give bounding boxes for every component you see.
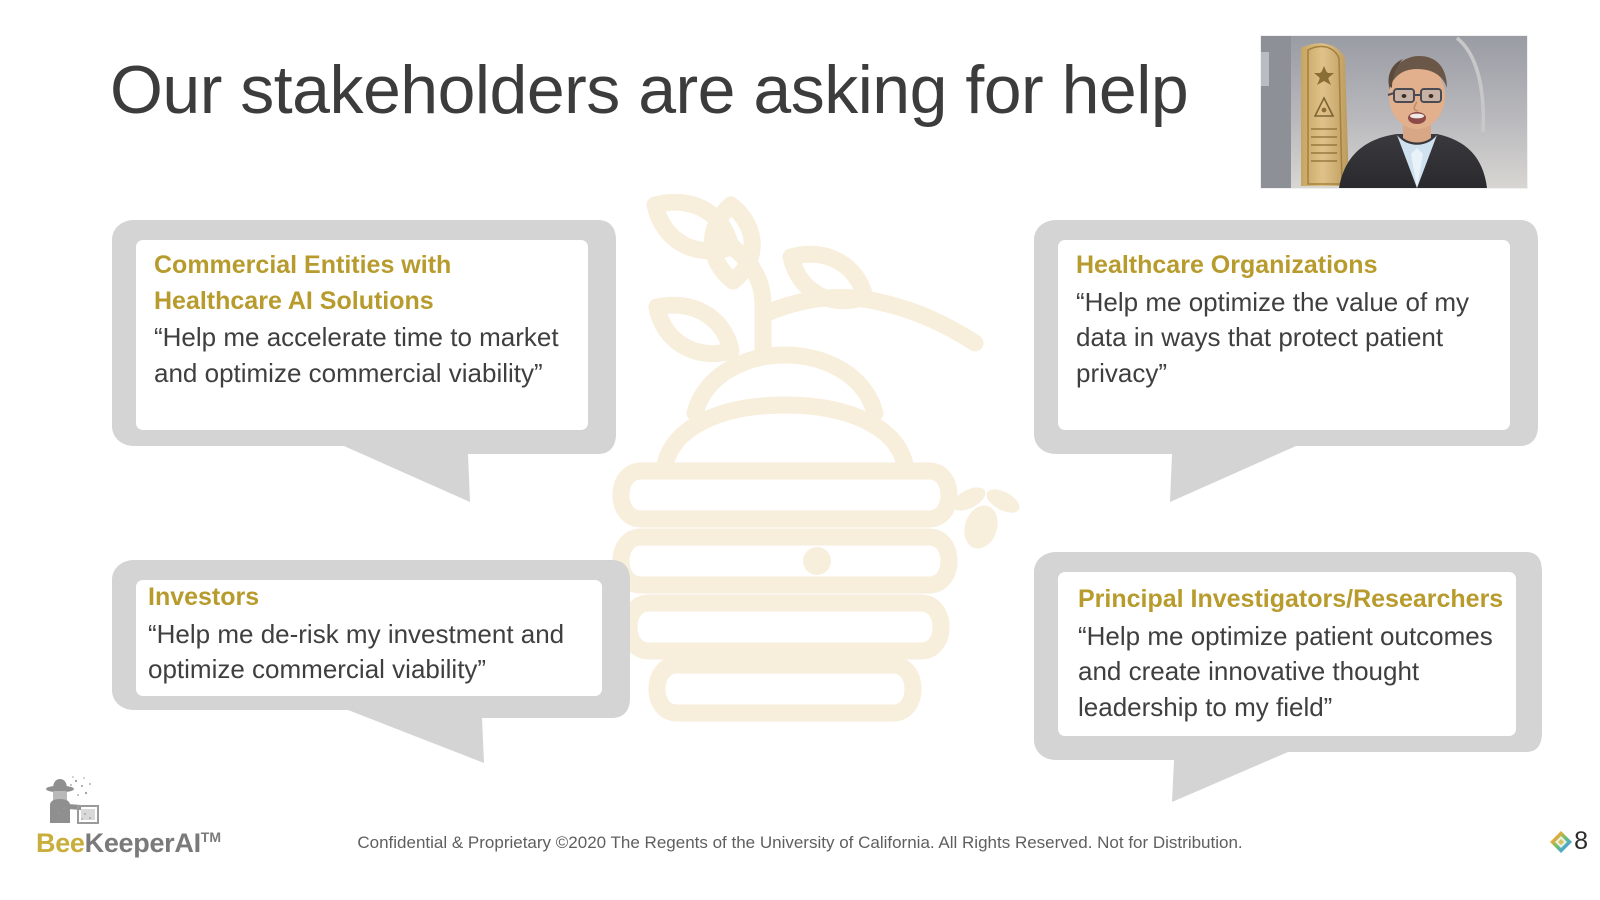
callout-quote: “Help me optimize the value of my data i…: [1076, 285, 1506, 393]
callout-heading: Principal Investigators/Researchers: [1078, 582, 1520, 618]
callout-heading: Healthcare Organizations: [1076, 248, 1506, 284]
callout-heading: Investors: [148, 580, 598, 616]
presenter-video-feed[interactable]: [1261, 36, 1527, 188]
page-title: Our stakeholders are asking for help: [110, 52, 1188, 128]
presentation-slide: Our stakeholders are asking for help: [0, 0, 1600, 900]
callout-heading: Commercial Entities with Healthcare AI S…: [154, 248, 574, 319]
page-number-group: 8: [1549, 829, 1588, 854]
callout-healthcare-organizations[interactable]: Healthcare Organizations “Help me optimi…: [1020, 218, 1540, 508]
callout-quote: “Help me de-risk my investment and optim…: [148, 617, 598, 689]
callout-commercial-entities[interactable]: Commercial Entities with Healthcare AI S…: [98, 218, 618, 508]
beekeeper-icon: [40, 775, 102, 827]
callout-quote: “Help me accelerate time to market and o…: [154, 320, 574, 392]
callout-investors[interactable]: Investors “Help me de-risk my investment…: [98, 558, 633, 803]
callout-principal-investigators[interactable]: Principal Investigators/Researchers “Hel…: [1020, 550, 1545, 805]
footer-confidentiality-notice: Confidential & Proprietary ©2020 The Reg…: [0, 833, 1600, 853]
callout-quote: “Help me optimize patient outcomes and c…: [1078, 619, 1520, 727]
rainbow-diamond-icon: [1549, 830, 1573, 854]
page-number: 8: [1574, 829, 1588, 854]
